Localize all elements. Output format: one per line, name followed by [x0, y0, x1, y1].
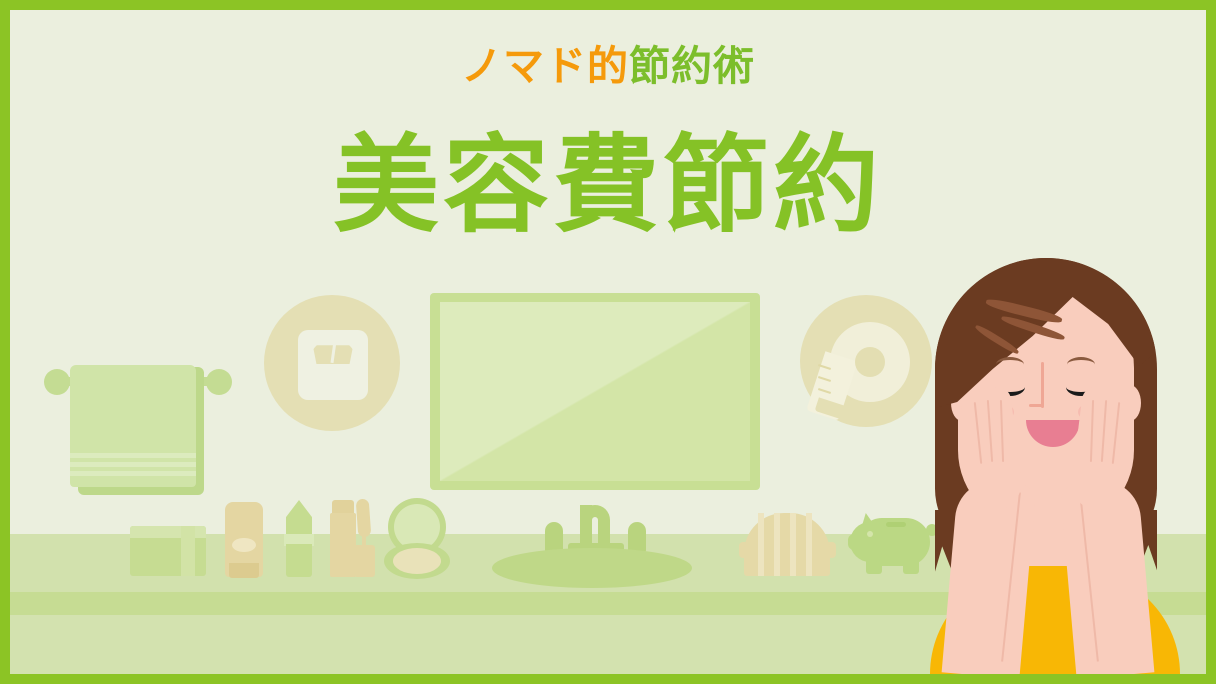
pouch-stripe — [774, 513, 780, 576]
woman-eyebrow-left — [996, 357, 1024, 372]
illustration-canvas: ノマド的節約術 美容費節約 — [10, 10, 1206, 674]
piggy-bank-coin-slot — [886, 522, 906, 527]
faucet-handle-left — [545, 522, 563, 552]
lipstick-base — [286, 544, 312, 577]
towel-rack — [48, 365, 228, 495]
mascara-body — [330, 513, 356, 577]
mirror-reflection — [440, 302, 750, 481]
banner-image: ノマド的節約術 美容費節約 — [0, 0, 1216, 684]
piggy-bank-eye — [867, 531, 873, 537]
cosmetic-tube-highlight — [232, 538, 256, 552]
hanging-towel-front — [70, 365, 196, 487]
towel-rack-knob-left — [44, 369, 70, 395]
towel-stripe — [70, 462, 196, 467]
piggy-bank-snout — [848, 534, 864, 550]
tape-measure-hub — [855, 347, 885, 377]
logo-text-green: 節約術 — [629, 43, 755, 89]
cosmetic-tube-cap — [229, 563, 259, 578]
logo-text-orange: ノマド的 — [461, 43, 629, 89]
towel-stripe — [70, 453, 196, 458]
towel-stripe — [70, 471, 196, 476]
compact-powder-pan — [393, 548, 441, 574]
folded-towel-band — [181, 526, 195, 576]
site-logo-text: ノマド的節約術 — [10, 46, 1206, 87]
woman-nose — [1041, 362, 1044, 408]
page-title: 美容費節約 — [10, 128, 1206, 245]
faucet-handle-right — [628, 522, 646, 552]
towel-rack-knob-right — [206, 369, 232, 395]
pouch-stripe — [758, 513, 764, 576]
mascara-wand-handle — [354, 545, 375, 577]
woman-nose-tip — [1029, 404, 1043, 407]
pouch-stripe — [790, 513, 796, 576]
woman-eyebrow-right — [1067, 357, 1095, 372]
pouch-stripe — [806, 513, 812, 576]
sink-basin — [492, 548, 692, 588]
